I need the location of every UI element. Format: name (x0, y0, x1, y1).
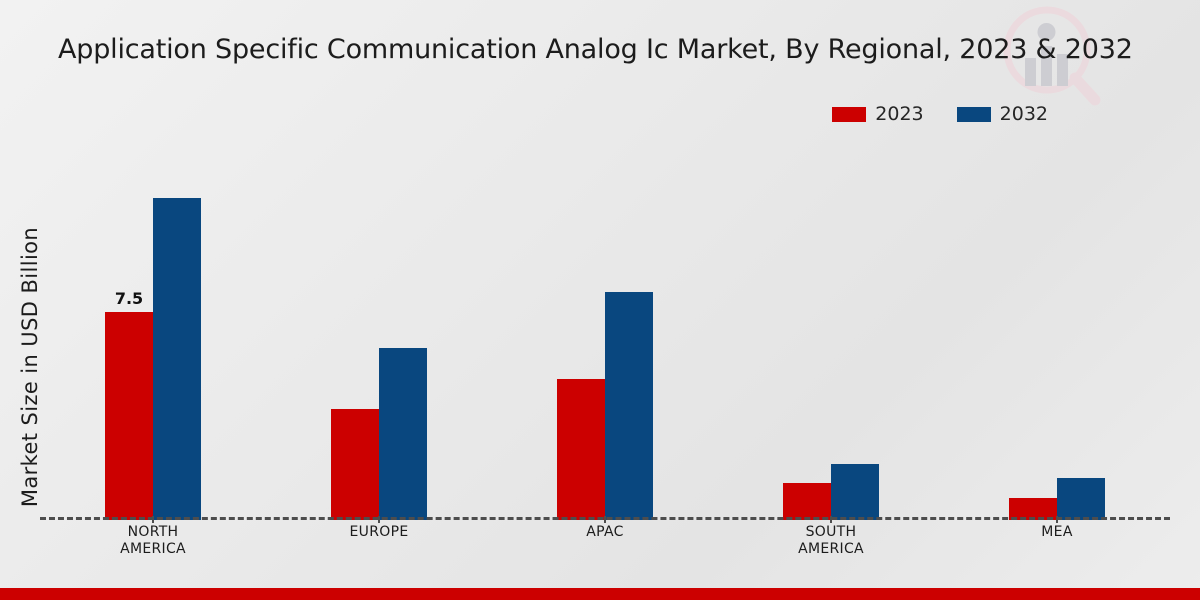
tick-mark (40, 516, 266, 523)
tick-mark (492, 516, 718, 523)
tick-label-europe: EUROPE (266, 524, 492, 558)
bar-2023-south-america[interactable] (783, 483, 831, 520)
tick-label-apac: APAC (492, 524, 718, 558)
tick-mark (718, 516, 944, 523)
legend-item-2023[interactable]: 2023 (832, 103, 923, 125)
tick-label-mea: MEA (944, 524, 1170, 558)
bar-group-mea (944, 144, 1170, 520)
plot-area: 7.5 (40, 140, 1170, 520)
tick-label-line: SOUTH (718, 524, 944, 541)
legend-item-2032[interactable]: 2032 (957, 103, 1048, 125)
bar-2023-north-america[interactable]: 7.5 (105, 312, 153, 520)
tick-label-north-america: NORTH AMERICA (40, 524, 266, 558)
legend-swatch-2023 (832, 107, 866, 122)
bar-2032-apac[interactable] (605, 292, 653, 520)
bar-group-south-america (718, 144, 944, 520)
bar-2032-mea[interactable] (1057, 478, 1105, 520)
x-axis-tick-marks (40, 516, 1170, 523)
tick-label-line: MEA (944, 524, 1170, 541)
chart-title: Application Specific Communication Analo… (58, 33, 1168, 66)
bar-2023-apac[interactable] (557, 379, 605, 520)
x-axis-tick-labels: NORTH AMERICA EUROPE APAC SOUTH AMERICA … (40, 524, 1170, 558)
bar-pair (331, 348, 427, 520)
tick-label-line: EUROPE (266, 524, 492, 541)
tick-mark (944, 516, 1170, 523)
bar-pair (783, 464, 879, 520)
bar-groups: 7.5 (40, 144, 1170, 520)
tick-label-line: NORTH (40, 524, 266, 541)
tick-mark (266, 516, 492, 523)
chart-infographic: Application Specific Communication Analo… (0, 0, 1200, 600)
bar-pair (1009, 478, 1105, 520)
bar-pair: 7.5 (105, 198, 201, 520)
tick-label-line: APAC (492, 524, 718, 541)
bar-group-apac (492, 144, 718, 520)
bar-2032-north-america[interactable] (153, 198, 201, 520)
bar-2032-south-america[interactable] (831, 464, 879, 520)
tick-label-south-america: SOUTH AMERICA (718, 524, 944, 558)
legend-label-2032: 2032 (1000, 103, 1048, 125)
bar-2023-europe[interactable] (331, 409, 379, 520)
bar-2032-europe[interactable] (379, 348, 427, 520)
tick-label-line: AMERICA (718, 541, 944, 558)
tick-label-line: AMERICA (40, 541, 266, 558)
bar-pair (557, 292, 653, 520)
legend-label-2023: 2023 (875, 103, 923, 125)
chart-legend: 2023 2032 (832, 103, 1048, 125)
bar-value-2023-north-america: 7.5 (115, 289, 143, 308)
bar-group-north-america: 7.5 (40, 144, 266, 520)
footer-accent-bar (0, 588, 1200, 600)
bar-group-europe (266, 144, 492, 520)
y-axis-title: Market Size in USD Billion (18, 197, 42, 537)
legend-swatch-2032 (957, 107, 991, 122)
